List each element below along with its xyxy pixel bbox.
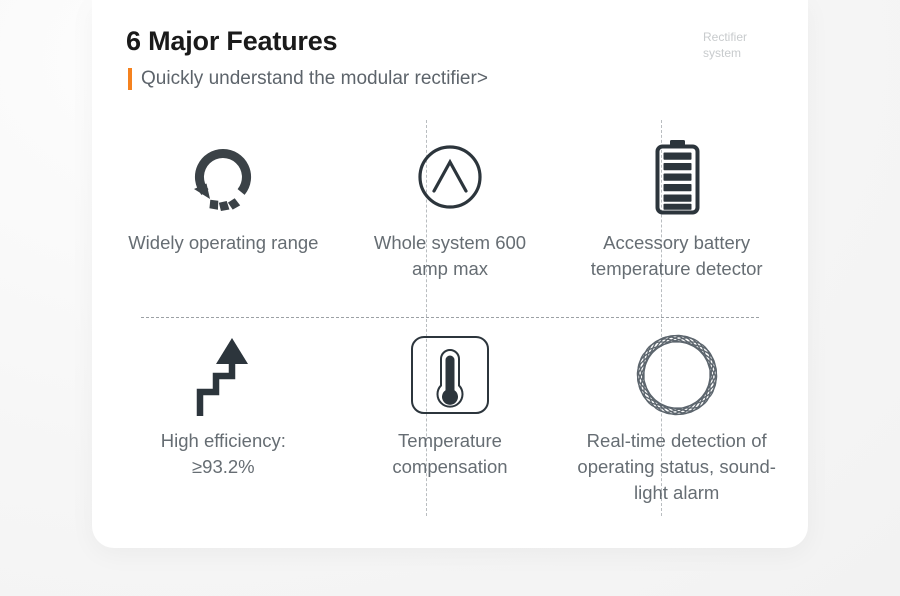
battery-full-icon — [640, 134, 714, 220]
feature-label: Real-time detection of operating status,… — [577, 428, 776, 506]
circular-arrow-dashed-icon — [186, 134, 260, 220]
features-grid: Widely operating range Whole system 600 … — [110, 118, 790, 518]
feature-item-battery-temp-detector[interactable]: Accessory battery temperature detector — [563, 118, 790, 318]
feature-card: 6 Major Features Quickly understand the … — [92, 0, 808, 548]
feature-label: Temperature compensation — [392, 428, 507, 480]
feature-item-temperature-compensation[interactable]: Temperature compensation — [337, 318, 564, 518]
page-subtitle: Quickly understand the modular rectifier… — [141, 68, 488, 90]
feature-item-high-efficiency[interactable]: High efficiency: ≥93.2% — [110, 318, 337, 518]
thermometer-icon — [408, 332, 492, 418]
stairs-up-arrow-icon — [186, 332, 260, 418]
subtitle-row: Quickly understand the modular rectifier… — [128, 68, 488, 90]
brand-tag: Rectifier system — [703, 29, 783, 61]
accent-bar — [128, 68, 132, 90]
feature-label: Accessory battery temperature detector — [591, 230, 763, 282]
page-title: 6 Major Features — [126, 26, 337, 57]
caret-in-circle-icon — [413, 134, 487, 220]
feature-label: High efficiency: ≥93.2% — [161, 428, 286, 480]
feature-label: Whole system 600 amp max — [374, 230, 526, 282]
feature-item-realtime-detection[interactable]: Real-time detection of operating status,… — [563, 318, 790, 518]
card-header: 6 Major Features Quickly understand the … — [92, 0, 808, 118]
feature-item-widely-operating-range[interactable]: Widely operating range — [110, 118, 337, 318]
feature-label: Widely operating range — [128, 230, 318, 256]
feature-item-whole-system-amps[interactable]: Whole system 600 amp max — [337, 118, 564, 318]
spirograph-squares-icon — [633, 332, 721, 418]
